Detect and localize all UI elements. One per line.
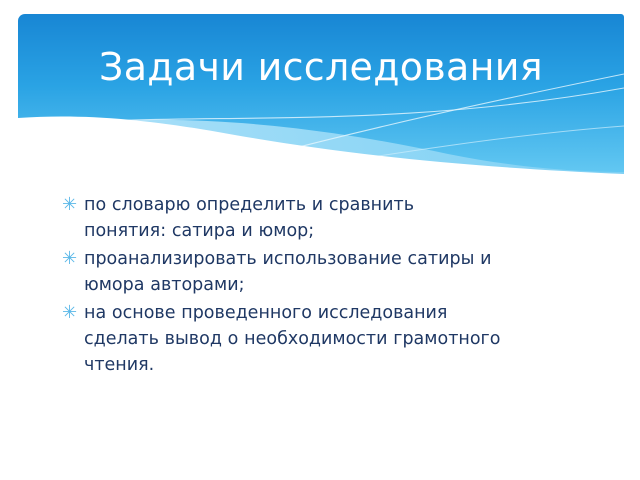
list-item: ✳ проанализировать использование сатиры … — [62, 246, 562, 298]
asterisk-bullet-icon: ✳ — [62, 246, 84, 272]
list-item: ✳ на основе проведенного исследования сд… — [62, 300, 562, 378]
asterisk-bullet-icon: ✳ — [62, 300, 84, 326]
banner-wave-graphic — [18, 14, 624, 174]
list-item: ✳ по словарю определить и сравнить понят… — [62, 192, 562, 244]
list-item-text: на основе проведенного исследования сдел… — [84, 300, 504, 378]
header-banner — [18, 14, 624, 174]
slide-title: Задачи исследования — [18, 44, 624, 90]
asterisk-bullet-icon: ✳ — [62, 192, 84, 218]
list-item-text: проанализировать использование сатиры и … — [84, 246, 534, 298]
bullet-list: ✳ по словарю определить и сравнить понят… — [62, 192, 562, 380]
list-item-text: по словарю определить и сравнить понятия… — [84, 192, 484, 244]
slide: Задачи исследования ✳ по словарю определ… — [0, 0, 640, 480]
